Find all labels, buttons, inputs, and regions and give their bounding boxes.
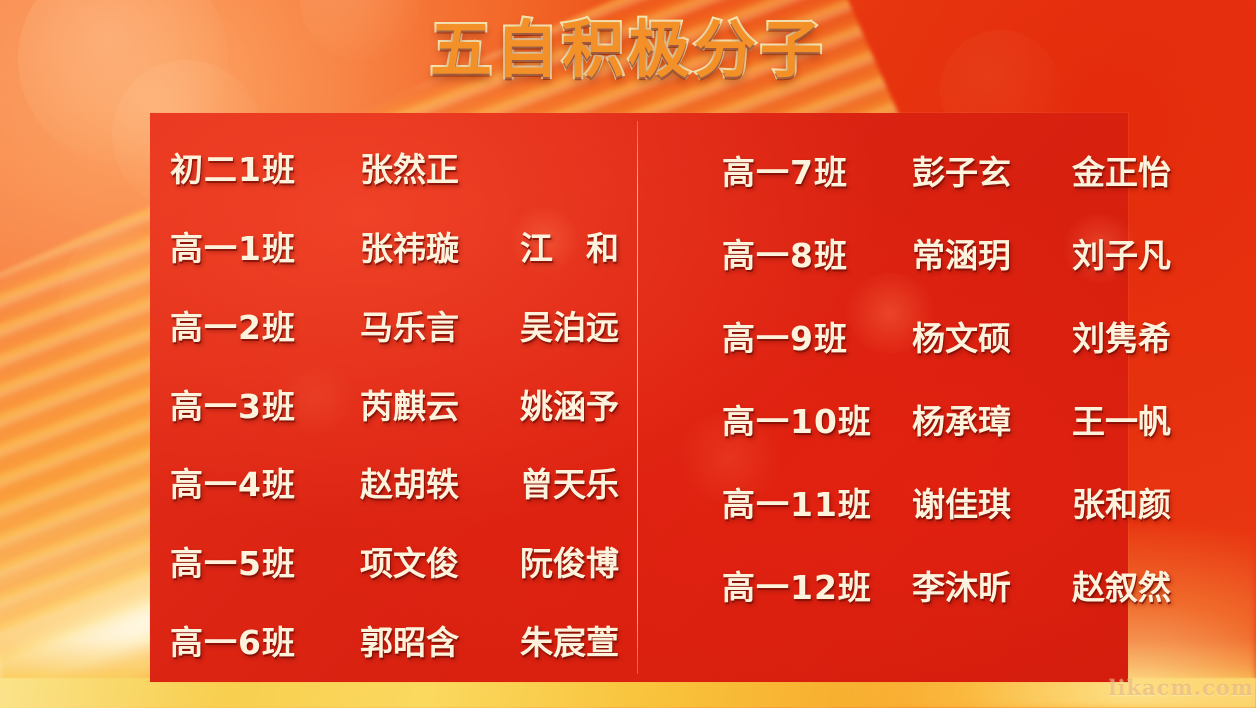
table-row: 高一2班 马乐言 吴泊远 [170,288,680,367]
row-name-2: 金正怡 [1072,153,1232,193]
table-row: 高一9班 杨文硕 刘隽希 [722,297,1232,380]
row-name-1: 杨文硕 [912,319,1072,359]
row-name-1: 彭子玄 [912,153,1072,193]
table-row: 高一7班 彭子玄 金正怡 [722,131,1232,214]
row-class: 高一6班 [170,623,360,663]
row-name-1: 马乐言 [360,308,520,348]
roster-panel: 初二1班 张然正 高一1班 张祎璇 江 和 高一2班 马乐言 吴泊远 高一3班 … [150,113,1128,682]
row-class: 高一7班 [722,153,912,193]
row-class: 高一5班 [170,544,360,584]
row-class: 高一11班 [722,485,912,525]
row-name-1: 张祎璇 [360,229,520,269]
row-class: 高一9班 [722,319,912,359]
roster-columns: 初二1班 张然正 高一1班 张祎璇 江 和 高一2班 马乐言 吴泊远 高一3班 … [150,113,1128,682]
row-name-2: 刘隽希 [1072,319,1232,359]
row-class: 高一3班 [170,387,360,427]
row-name-1: 赵胡轶 [360,465,520,505]
table-row: 高一11班 谢佳琪 张和颜 [722,463,1232,546]
row-name-1: 李沐昕 [912,568,1072,608]
row-name-2: 姚涵予 [520,387,680,427]
row-name-1: 常涵玥 [912,236,1072,276]
row-name-2: 赵叙然 [1072,568,1232,608]
row-name-1: 杨承璋 [912,402,1072,442]
row-class: 高一10班 [722,402,912,442]
row-name-2: 吴泊远 [520,308,680,348]
table-row: 高一5班 项文俊 阮俊博 [170,525,680,604]
row-class: 初二1班 [170,150,360,190]
row-name-2: 张和颜 [1072,485,1232,525]
roster-column-right: 高一7班 彭子玄 金正怡 高一8班 常涵玥 刘子凡 高一9班 杨文硕 刘隽希 高… [696,113,1242,682]
table-row: 高一8班 常涵玥 刘子凡 [722,214,1232,297]
row-name-2: 曾天乐 [520,465,680,505]
row-class: 高一4班 [170,465,360,505]
table-row: 高一4班 赵胡轶 曾天乐 [170,446,680,525]
row-name-1: 郭昭含 [360,623,520,663]
table-row: 高一1班 张祎璇 江 和 [170,210,680,289]
row-name-1: 项文俊 [360,544,520,584]
row-name-1: 谢佳琪 [912,485,1072,525]
page-title-text: 五自积极分子 [430,13,826,86]
table-row: 高一12班 李沐昕 赵叙然 [722,546,1232,629]
row-class: 高一12班 [722,568,912,608]
page-title: 五自积极分子 [0,14,1256,86]
table-row: 初二1班 张然正 [170,131,680,210]
slide-canvas: 五自积极分子 初二1班 张然正 高一1班 张祎璇 江 和 高一2 [0,0,1256,708]
row-class: 高一2班 [170,308,360,348]
row-name-2: 江 和 [520,229,680,269]
row-name-1: 张然正 [360,150,520,190]
row-name-1: 芮麒云 [360,387,520,427]
row-name-2: 朱宸萱 [520,623,680,663]
row-name-2: 王一帆 [1072,402,1232,442]
table-row: 高一6班 郭昭含 朱宸萱 [170,603,680,682]
table-row: 高一10班 杨承璋 王一帆 [722,380,1232,463]
row-class: 高一8班 [722,236,912,276]
row-class: 高一1班 [170,229,360,269]
table-row: 高一3班 芮麒云 姚涵予 [170,367,680,446]
row-name-2: 刘子凡 [1072,236,1232,276]
roster-column-left: 初二1班 张然正 高一1班 张祎璇 江 和 高一2班 马乐言 吴泊远 高一3班 … [150,113,696,682]
row-name-2: 阮俊博 [520,544,680,584]
